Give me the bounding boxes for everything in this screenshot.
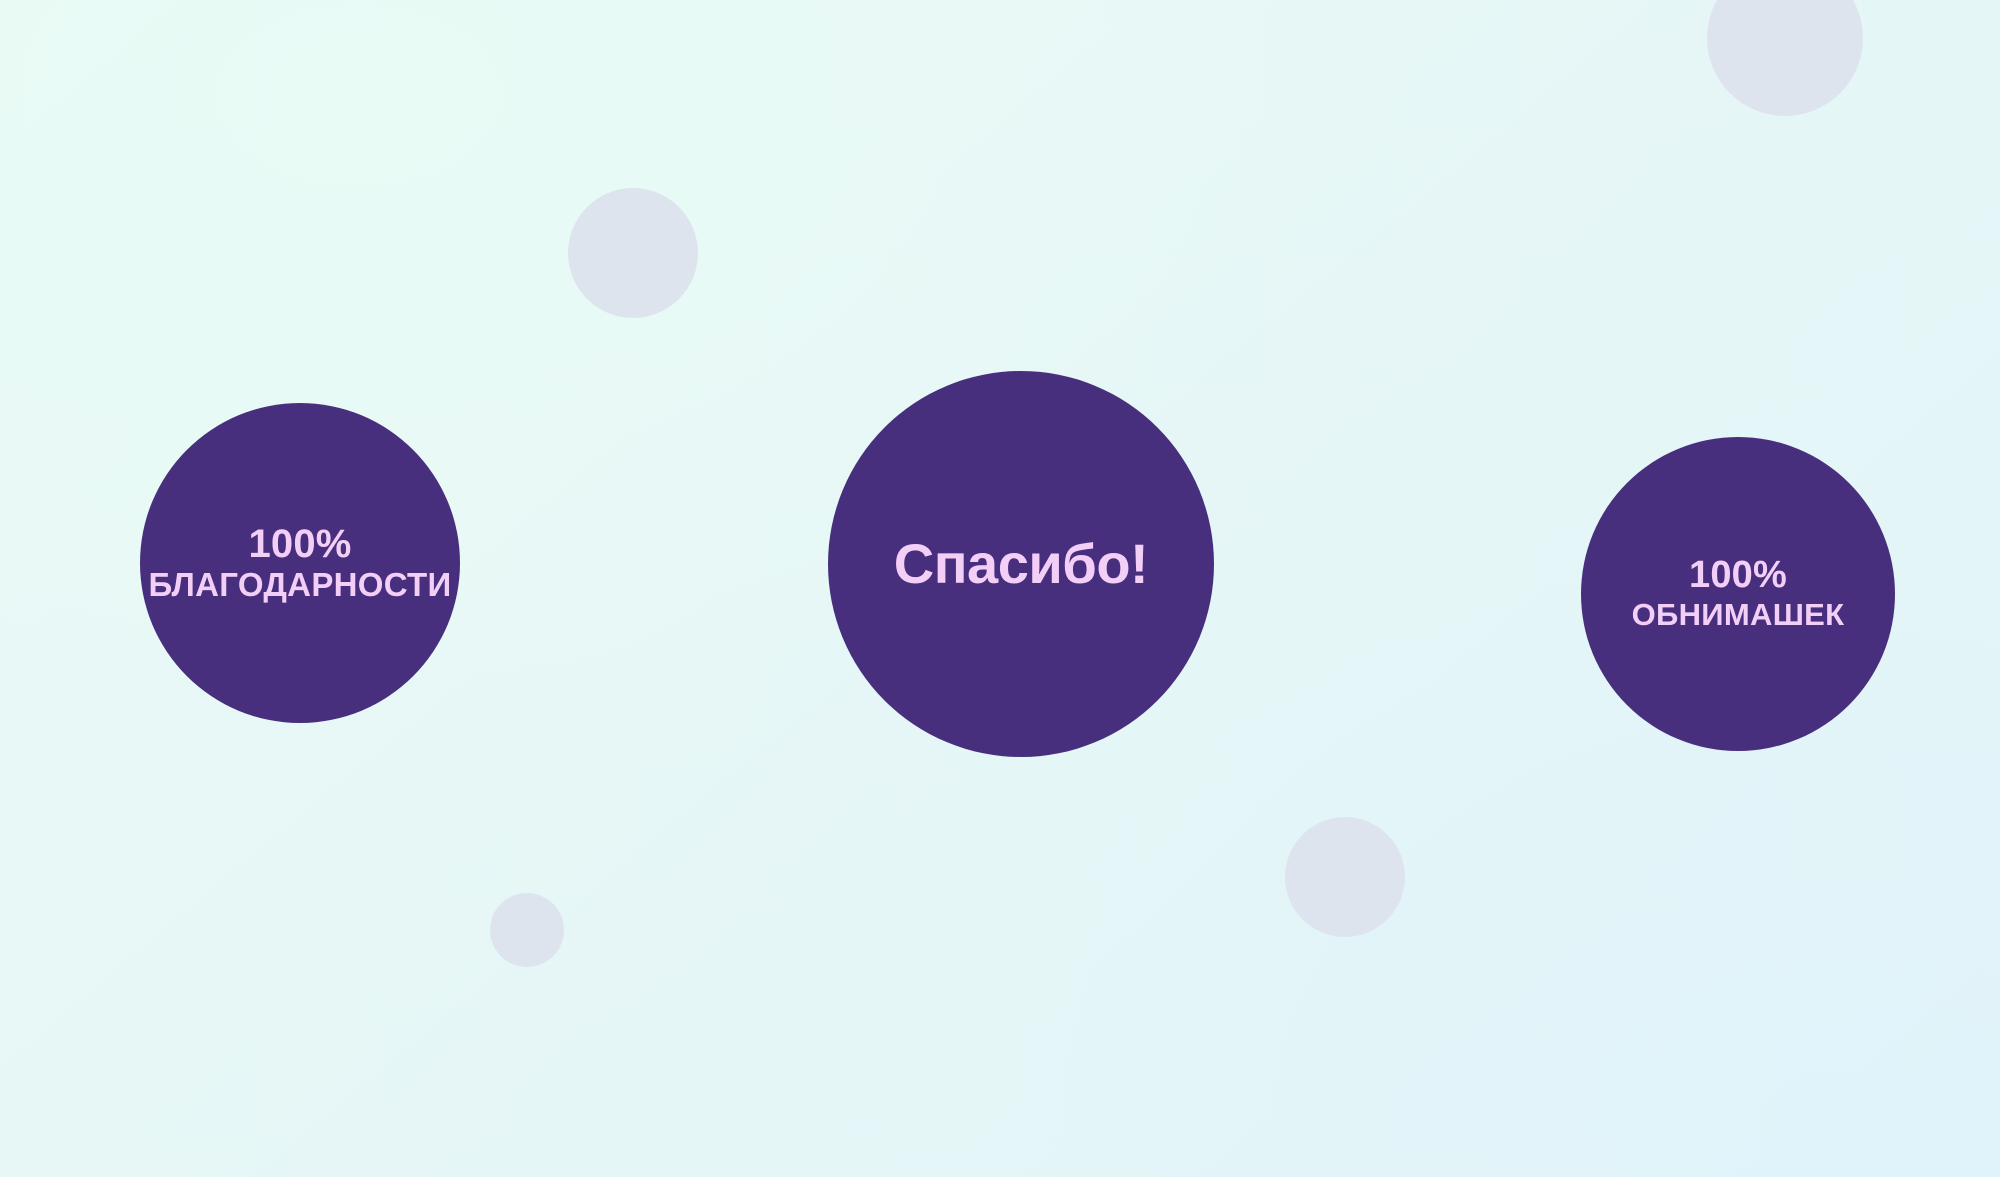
decorative-bubble-lower-right — [1285, 817, 1405, 937]
badge-thanks-title: Спасибо! — [894, 535, 1148, 594]
badge-thanks: Спасибо! — [828, 371, 1214, 757]
decorative-bubble-upper-left — [568, 188, 698, 318]
decorative-bubble-top-right — [1707, 0, 1863, 116]
thank-you-slide: 100% БЛАГОДАРНОСТИ Спасибо! 100% ОБНИМАШ… — [0, 0, 2000, 1177]
badge-hugs-percent: 100% — [1689, 556, 1787, 596]
badge-gratitude-percent: 100% — [248, 523, 351, 565]
badge-gratitude: 100% БЛАГОДАРНОСТИ — [140, 403, 460, 723]
badge-hugs: 100% ОБНИМАШЕК — [1581, 437, 1895, 751]
badge-gratitude-label: БЛАГОДАРНОСТИ — [148, 568, 451, 603]
decorative-bubble-lower-left — [490, 893, 564, 967]
badge-hugs-label: ОБНИМАШЕК — [1632, 599, 1845, 632]
